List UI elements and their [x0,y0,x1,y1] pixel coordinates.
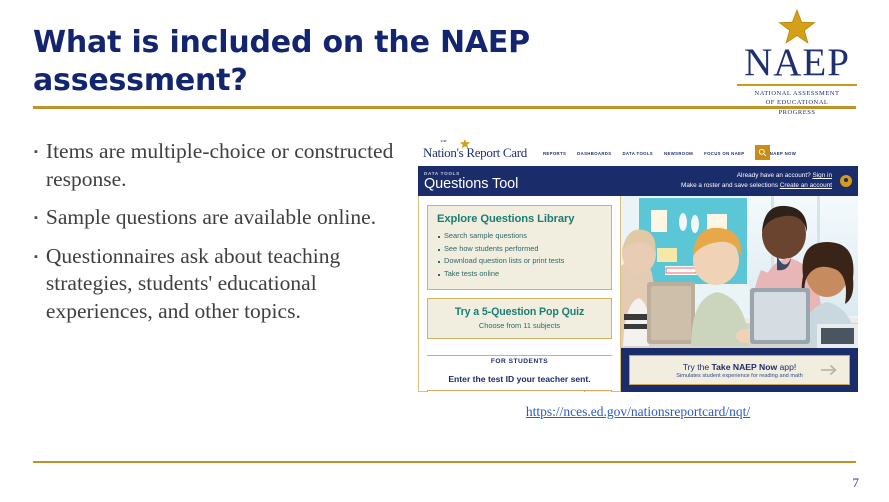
nav-link-focus-on-naep[interactable]: FOCUS ON NAEP [704,151,744,156]
account-row-create: Make a roster and save selections Create… [681,181,832,191]
pop-quiz-subtitle: Choose from 11 subjects [434,321,605,330]
test-id-submit-button[interactable] [585,390,612,392]
nav-link-data-tools[interactable]: DATA TOOLS [622,151,653,156]
list-item: Take tests online [437,268,602,281]
pop-quiz-title: Try a 5-Question Pop Quiz [434,306,605,318]
naep-wordmark: NAEP [727,44,867,81]
user-avatar-icon[interactable] [840,175,852,187]
nav-link-newsroom[interactable]: NEWSROOM [664,151,693,156]
tool-title: Questions Tool [424,177,518,192]
explore-questions-card[interactable]: Explore Questions Library Search sample … [427,205,612,290]
avatar-head-shape [844,178,848,182]
for-students-divider: FOR STUDENTS [427,350,612,368]
nav-link-dashboards[interactable]: DASHBOARDS [577,151,611,156]
list-item: ▪ Questionnaires ask about teaching stra… [34,243,424,326]
logo-the-label: The [440,140,447,144]
banner-prefix: Try the [683,362,712,372]
source-url: https://nces.ed.gov/nationsreportcard/nq… [418,403,858,421]
embedded-screenshot: The Nation's Report Card REPORTS DASHBOA… [418,140,858,392]
test-id-row: ___-___ [427,390,612,392]
test-id-input[interactable]: ___-___ [427,390,585,392]
list-item: Search sample questions [437,230,602,243]
footer-divider [33,461,856,463]
nqt-link[interactable]: https://nces.ed.gov/nationsreportcard/nq… [526,404,750,419]
page-number: 7 [853,475,860,491]
sign-in-link[interactable]: Sign in [812,172,832,179]
explore-card-list: Search sample questions See how students… [437,230,602,281]
search-button[interactable] [755,145,770,160]
list-item: Download question lists or print tests [437,255,602,268]
naep-tagline-1: NATIONAL ASSESSMENT [727,89,867,98]
bullet-marker-icon: ▪ [34,213,38,224]
nav-link-reports[interactable]: REPORTS [543,151,566,156]
nations-report-card-logo[interactable]: The Nation's Report Card [423,145,527,161]
site-top-nav: The Nation's Report Card REPORTS DASHBOA… [418,140,858,166]
search-icon [758,148,767,157]
classroom-photo-illustration [621,196,858,348]
banner-text: Try the Take NAEP Now app! Simulates stu… [676,362,803,379]
divider-line [427,355,612,356]
list-item: See how students performed [437,243,602,256]
account-prompt-label: Already have an account? [737,172,811,179]
bullet-marker-icon: ▪ [34,252,38,263]
page-title: What is included on the NAEP assessment? [33,24,593,99]
banner-app-name: Take NAEP Now [712,362,778,372]
for-students-label: FOR STUDENTS [484,358,555,365]
bullet-marker-icon: ▪ [34,147,38,158]
bullet-list: ▪ Items are multiple-choice or construct… [34,138,424,336]
bullet-text: Questionnaires ask about teaching strate… [46,243,424,326]
bullet-text: Sample questions are available online. [46,204,376,232]
tool-header-bar: DATA TOOLS Questions Tool Already have a… [418,166,858,196]
account-links: Already have an account? Sign in Make a … [681,171,832,191]
test-id-instruction: Enter the test ID your teacher sent. [427,374,612,384]
roster-prompt-label: Make a roster and save selections [681,182,778,189]
explore-card-title: Explore Questions Library [437,213,602,225]
account-row-signin: Already have an account? Sign in [681,171,832,181]
list-item: ▪ Sample questions are available online. [34,204,424,232]
tool-left-panel: Explore Questions Library Search sample … [418,196,621,392]
naep-tagline-3: PROGRESS [727,108,867,117]
take-naep-now-banner[interactable]: Try the Take NAEP Now app! Simulates stu… [629,355,850,385]
naep-logo: NAEP NATIONAL ASSESSMENT OF EDUCATIONAL … [727,8,867,117]
star-icon [459,140,471,150]
list-item: ▪ Items are multiple-choice or construct… [34,138,424,193]
banner-subtext: Simulates student experience for reading… [676,373,803,379]
banner-headline: Try the Take NAEP Now app! [676,362,803,372]
bullet-text: Items are multiple-choice or constructed… [46,138,424,193]
tool-breadcrumb: DATA TOOLS [424,171,518,176]
tool-header-text: DATA TOOLS Questions Tool [424,171,518,192]
banner-suffix: app! [777,362,796,372]
classroom-photo [621,196,858,348]
header-divider [33,106,856,109]
logo-divider [737,84,857,86]
tool-right-panel: Try the Take NAEP Now app! Simulates stu… [621,196,858,392]
pop-quiz-card[interactable]: Try a 5-Question Pop Quiz Choose from 11… [427,298,612,339]
create-account-link[interactable]: Create an account [780,182,832,189]
arrow-right-icon [819,363,839,377]
logo-name-label: Nation's Report Card [423,145,527,160]
tool-body: Explore Questions Library Search sample … [418,196,858,392]
